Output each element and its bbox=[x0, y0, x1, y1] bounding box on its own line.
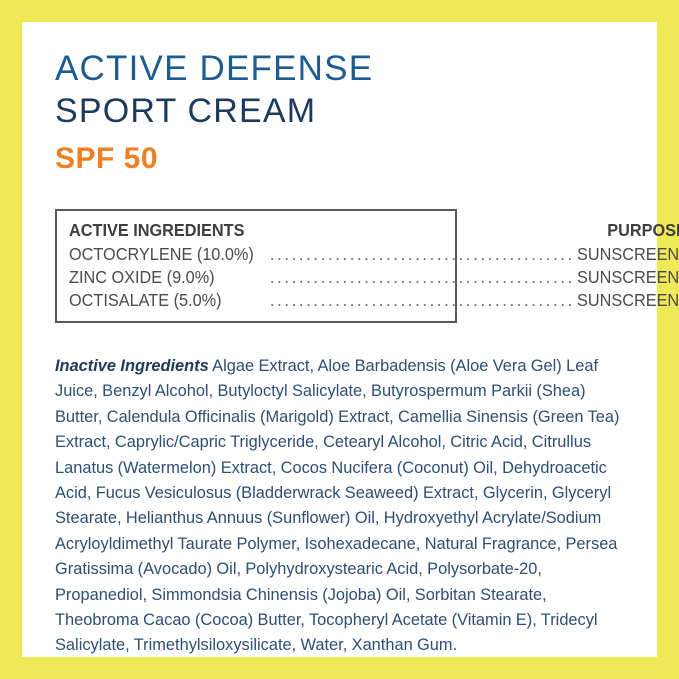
spf-rating: SPF 50 bbox=[55, 142, 625, 175]
ingredient-purpose: SUNSCREEN bbox=[577, 243, 679, 266]
column-header-ingredient: ACTIVE INGREDIENTS bbox=[69, 219, 254, 243]
ingredient-name: OCTOCRYLENE (10.0%) bbox=[69, 243, 254, 266]
inactive-ingredients-list: Algae Extract, Aloe Barbadensis (Aloe Ve… bbox=[55, 357, 619, 654]
dot-leader: ........................................… bbox=[268, 243, 577, 266]
dot-leader-dots: ........................................… bbox=[270, 266, 575, 289]
active-ingredients-table: ACTIVE INGREDIENTS PURPOSE OCTOCRYLENE (… bbox=[69, 219, 679, 312]
ingredient-purpose: SUNSCREEN bbox=[577, 266, 679, 289]
dot-leader: ........................................… bbox=[268, 289, 577, 312]
dot-leader: ........................................… bbox=[268, 266, 577, 289]
inactive-ingredients-label: Inactive Ingredients bbox=[55, 357, 209, 375]
inactive-ingredients-paragraph: Inactive Ingredients Algae Extract, Aloe… bbox=[55, 354, 628, 659]
product-name-line: SPORT CREAM bbox=[55, 91, 625, 131]
table-row: OCTISALATE (5.0%) ......................… bbox=[69, 289, 679, 312]
column-header-purpose: PURPOSE bbox=[584, 219, 679, 243]
ingredient-name: ZINC OXIDE (9.0%) bbox=[69, 266, 254, 289]
column-header-spacer bbox=[268, 219, 577, 243]
table-header-row: ACTIVE INGREDIENTS PURPOSE bbox=[69, 219, 679, 243]
ingredient-purpose: SUNSCREEN bbox=[577, 289, 679, 312]
active-ingredients-box: ACTIVE INGREDIENTS PURPOSE OCTOCRYLENE (… bbox=[55, 209, 457, 323]
product-label-panel: ACTIVE DEFENSE SPORT CREAM SPF 50 ACTIVE… bbox=[22, 22, 657, 657]
dot-leader-dots: ........................................… bbox=[270, 289, 575, 312]
table-row: ZINC OXIDE (9.0%) ......................… bbox=[69, 266, 679, 289]
product-brand-line: ACTIVE DEFENSE bbox=[55, 50, 625, 89]
ingredient-name: OCTISALATE (5.0%) bbox=[69, 289, 254, 312]
table-row: OCTOCRYLENE (10.0%) ....................… bbox=[69, 243, 679, 266]
dot-leader-dots: ........................................… bbox=[270, 243, 575, 266]
title-block: ACTIVE DEFENSE SPORT CREAM SPF 50 bbox=[55, 50, 625, 175]
